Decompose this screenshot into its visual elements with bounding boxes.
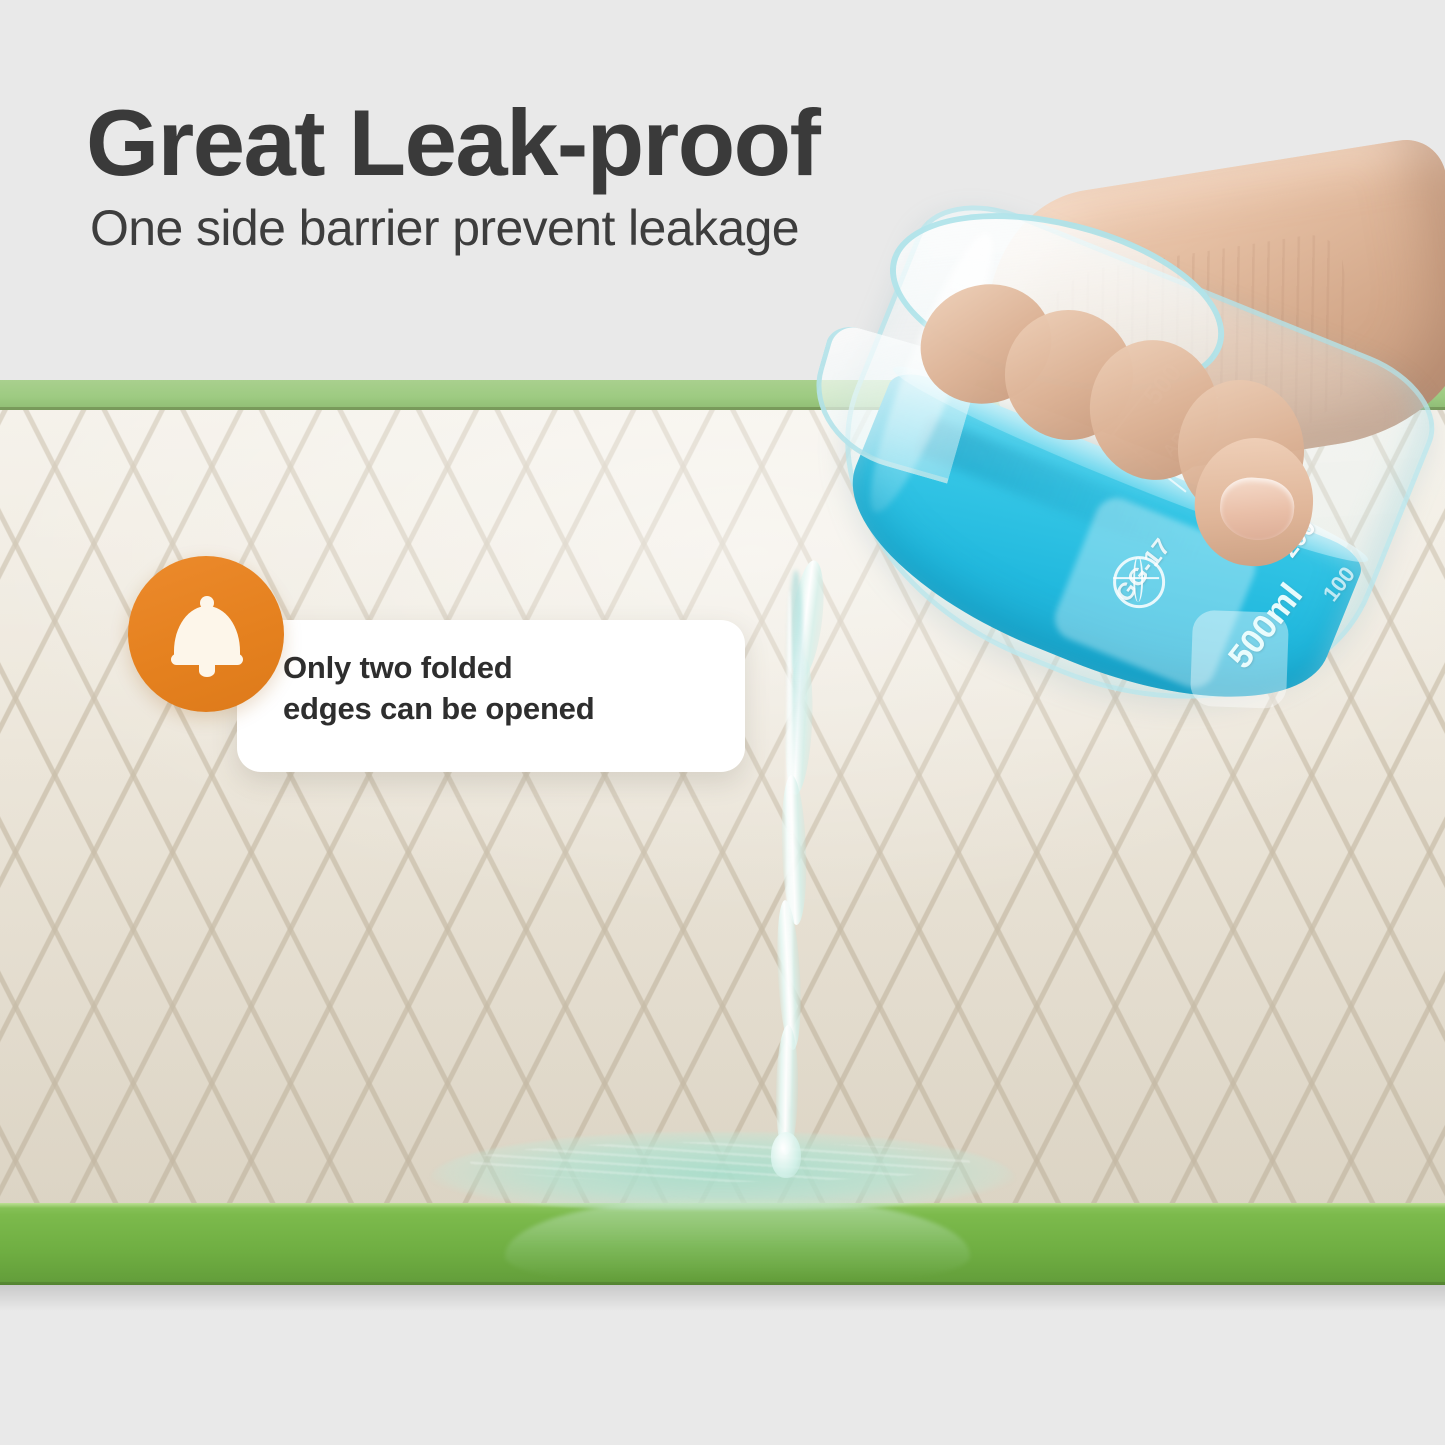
callout-badge bbox=[128, 556, 284, 712]
callout-text: Only two folded edges can be opened bbox=[283, 648, 743, 730]
stream-droplet bbox=[771, 1132, 801, 1178]
page-title: Great Leak-proof bbox=[86, 96, 819, 190]
puddle-highlight bbox=[470, 1142, 970, 1182]
globe-icon bbox=[1113, 556, 1165, 608]
product-feature-image: Great Leak-proof One side barrier preven… bbox=[0, 0, 1445, 1445]
hand-pouring-beaker: 500 APPROX 300 200 100 GG-17 500ml bbox=[790, 210, 1445, 770]
callout-line-1: Only two folded bbox=[283, 648, 743, 689]
pad-drop-shadow bbox=[0, 1285, 1445, 1311]
puddle-barrier-overflow bbox=[505, 1200, 970, 1280]
callout-line-2: edges can be opened bbox=[283, 689, 743, 730]
page-subtitle: One side barrier prevent leakage bbox=[90, 203, 799, 253]
bell-icon bbox=[174, 594, 240, 674]
